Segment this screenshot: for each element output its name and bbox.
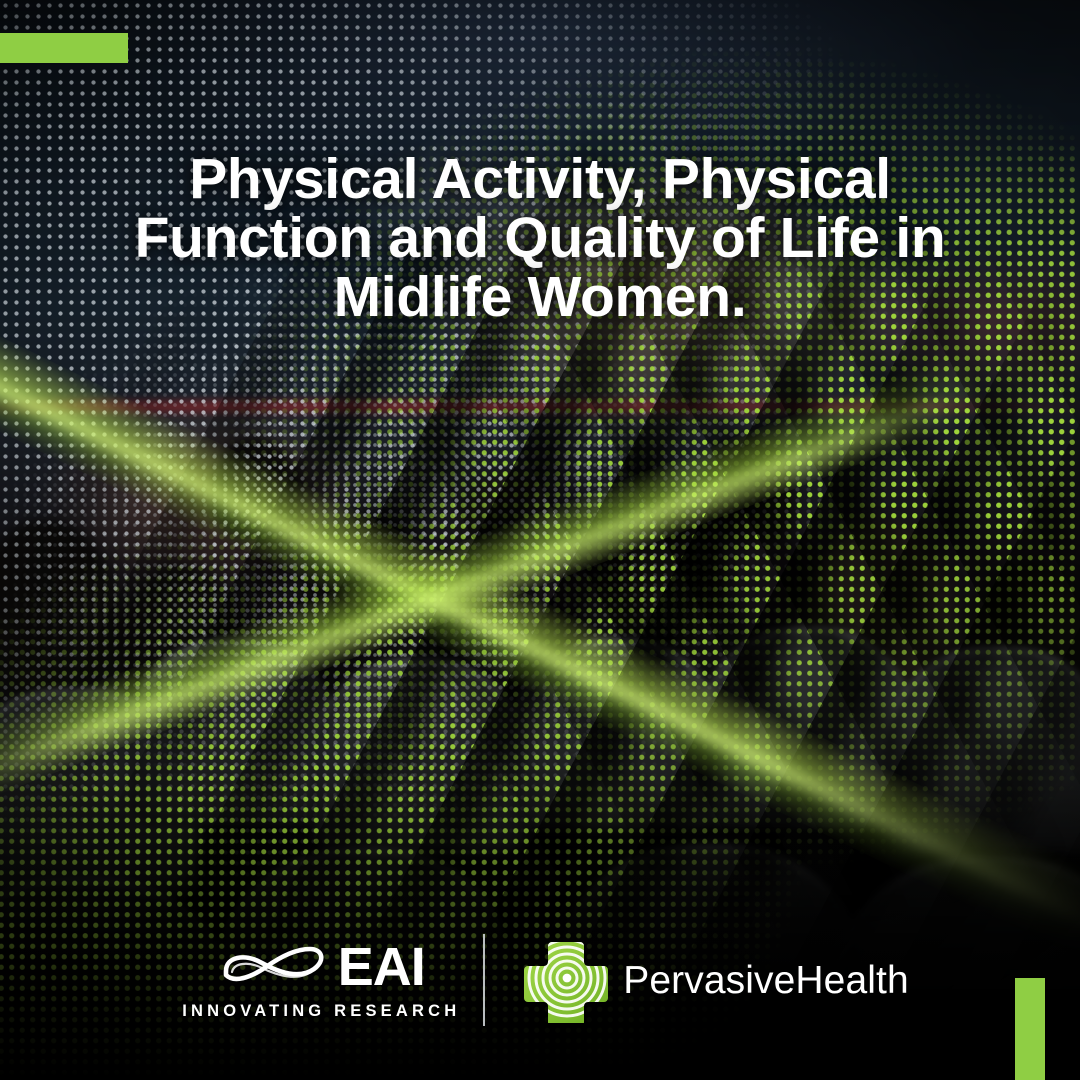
top-left-green-accent-bar (0, 33, 128, 63)
eai-wordmark: EAI (338, 940, 425, 994)
pervasive-health-wordmark: PervasiveHealth (623, 961, 908, 1000)
title-line-2: Function and Quality of Life in (95, 209, 985, 268)
title-line-3: Midlife Women. (95, 268, 985, 327)
eai-logo[interactable]: EAI INNOVATING RESEARCH (171, 940, 471, 1021)
title-line-1: Physical Activity, Physical (95, 150, 985, 209)
eai-logo-primary: EAI (218, 940, 425, 994)
eai-tagline: INNOVATING RESEARCH (182, 1002, 460, 1021)
pervasive-health-logo[interactable]: PervasiveHealth (523, 937, 908, 1023)
infinity-ribbon-icon (218, 941, 330, 993)
wave-bottom-fade (0, 780, 1080, 1080)
footer-logo-row: EAI INNOVATING RESEARCH (0, 934, 1080, 1026)
logo-divider (483, 934, 485, 1026)
green-cross-signal-waves-icon (523, 937, 609, 1023)
page-title: Physical Activity, Physical Function and… (0, 150, 1080, 326)
poster-canvas: Physical Activity, Physical Function and… (0, 0, 1080, 1080)
